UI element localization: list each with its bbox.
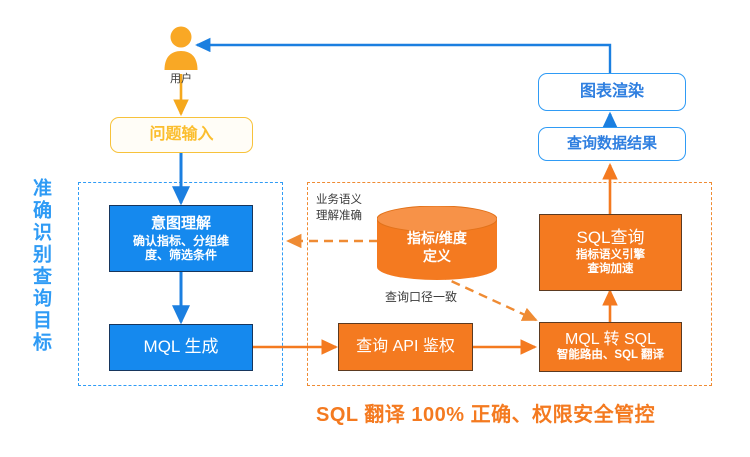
user-label: 用户 [151,70,211,86]
node-mql-to-sql-title: MQL 转 SQL [565,332,656,349]
node-intent-understanding-sub: 确认指标、分组维 度、筛选条件 [133,234,229,262]
node-intent-understanding-title: 意图理解 [151,215,211,233]
node-mql-to-sql[interactable]: MQL 转 SQL 智能路由、SQL 翻译 [539,322,682,372]
user-icon [163,25,199,71]
vertical-headline: 准确识别查询目标 [31,178,50,413]
node-mql-generate[interactable]: MQL 生成 [109,324,253,371]
node-query-api-auth-title: 查询 API 鉴权 [356,338,455,357]
annotation-business-semantics: 业务语义 理解准确 [316,193,362,224]
node-chart-render[interactable]: 图表渲染 [538,73,686,111]
node-query-api-auth[interactable]: 查询 API 鉴权 [338,323,473,371]
node-metric-dimension-definition[interactable]: 指标/维度 定义 [377,206,497,280]
node-mql-to-sql-sub: 智能路由、SQL 翻译 [557,349,664,363]
node-query-data-result[interactable]: 查询数据结果 [538,127,686,161]
annotation-query-caliber: 查询口径一致 [385,288,457,305]
diagram-canvas: 准确识别查询目标 用户 问题输入 意图理解 确认指标、分组维 度、筛选条件 MQ… [0,0,750,457]
node-question-input-title: 问题输入 [149,126,213,145]
node-chart-render-title: 图表渲染 [580,83,644,102]
node-sql-query[interactable]: SQL查询 指标语义引擎 查询加速 [539,214,682,291]
node-mql-generate-title: MQL 生成 [144,337,219,357]
bottom-caption: SQL 翻译 100% 正确、权限安全管控 [316,398,655,427]
node-sql-query-title: SQL查询 [576,228,644,248]
node-question-input[interactable]: 问题输入 [110,117,253,153]
node-query-data-result-title: 查询数据结果 [567,135,657,153]
node-sql-query-sub: 指标语义引擎 查询加速 [576,249,645,276]
node-intent-understanding[interactable]: 意图理解 确认指标、分组维 度、筛选条件 [109,205,253,272]
